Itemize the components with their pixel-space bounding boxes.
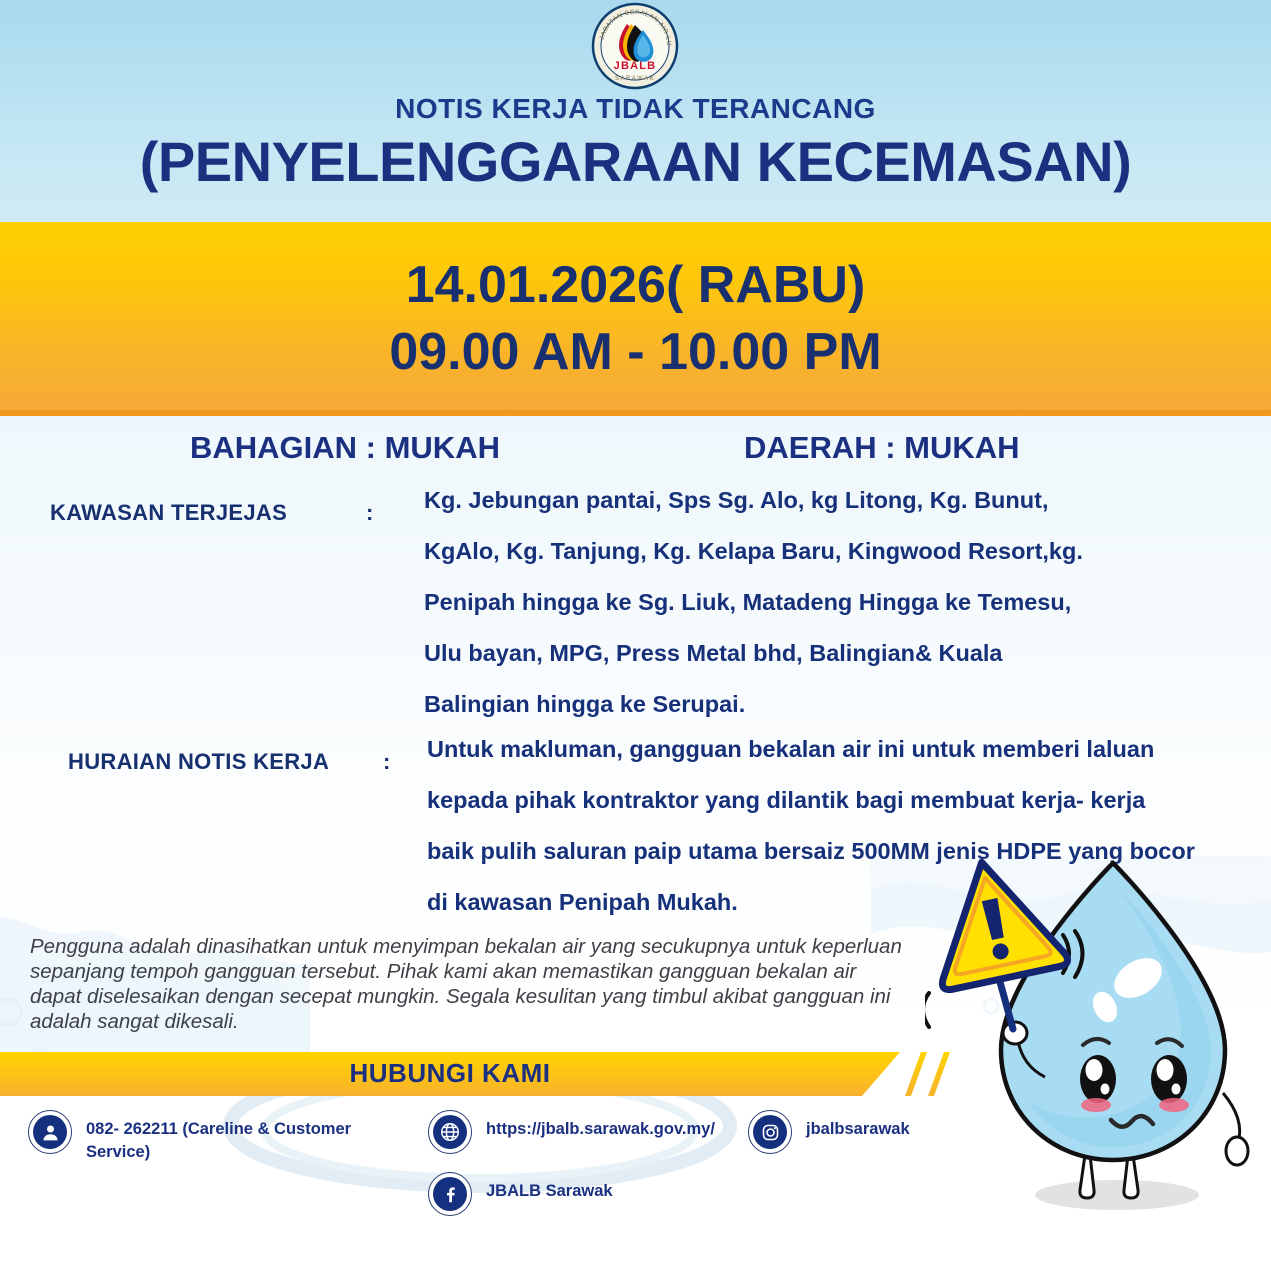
area-line: Penipah hingga ke Sg. Liuk, Matadeng Hin… xyxy=(424,577,1254,628)
area-line: Balingian hingga ke Serupai. xyxy=(424,679,1254,730)
kawasan-terjejas-colon: : xyxy=(366,500,373,526)
notice-title: (PENYELENGGARAAN KECEMASAN) xyxy=(0,133,1271,192)
area-line: Ulu bayan, MPG, Press Metal bhd, Balingi… xyxy=(424,628,1254,679)
contact-facebook[interactable]: JBALB Sarawak xyxy=(428,1172,728,1216)
globe-icon xyxy=(428,1110,472,1154)
daerah-text: DAERAH : MUKAH xyxy=(744,430,1020,466)
facebook-text: JBALB Sarawak xyxy=(486,1172,613,1203)
contact-careline[interactable]: 082- 262211 (Careline & Customer Service… xyxy=(28,1110,388,1164)
instagram-text: jbalbsarawak xyxy=(806,1110,910,1141)
hubungi-kami-label: HUBUNGI KAMI xyxy=(0,1058,900,1089)
careline-text: 082- 262211 (Careline & Customer Service… xyxy=(86,1110,366,1164)
person-icon xyxy=(28,1110,72,1154)
svg-text:SARAWAK: SARAWAK xyxy=(615,76,655,82)
advisory-paragraph: Pengguna adalah dinasihatkan untuk menyi… xyxy=(30,934,910,1034)
facebook-icon xyxy=(428,1172,472,1216)
area-line: KgAlo, Kg. Tanjung, Kg. Kelapa Baru, Kin… xyxy=(424,526,1254,577)
svg-text:JBALB: JBALB xyxy=(614,60,657,72)
area-line: Kg. Jebungan pantai, Sps Sg. Alo, kg Lit… xyxy=(424,475,1254,526)
website-text: https://jbalb.sarawak.gov.my/ xyxy=(486,1110,715,1141)
notice-subtitle: NOTIS KERJA TIDAK TERANCANG xyxy=(0,93,1271,125)
contact-website[interactable]: https://jbalb.sarawak.gov.my/ xyxy=(428,1110,758,1154)
desc-line: kepada pihak kontraktor yang dilantik ba… xyxy=(427,775,1245,826)
notice-time: 09.00 AM - 10.00 PM xyxy=(389,319,881,386)
huraian-notis-kerja-label: HURAIAN NOTIS KERJA xyxy=(68,749,329,775)
jbalb-logo: JBALB SARAWAK JABATAN BEKALAN AIR LUAR B… xyxy=(591,2,679,90)
warning-triangle-icon xyxy=(925,855,1069,991)
water-droplet-mascot xyxy=(925,855,1271,1265)
desc-line: Untuk makluman, gangguan bekalan air ini… xyxy=(427,724,1245,775)
bahagian-text: BAHAGIAN : MUKAH xyxy=(190,430,500,466)
kawasan-terjejas-label: KAWASAN TERJEJAS xyxy=(50,500,287,526)
notice-date: 14.01.2026( RABU) xyxy=(406,252,866,319)
kawasan-terjejas-value: Kg. Jebungan pantai, Sps Sg. Alo, kg Lit… xyxy=(424,475,1254,730)
date-time-band: 14.01.2026( RABU) 09.00 AM - 10.00 PM xyxy=(0,222,1271,415)
poster-header: JBALB SARAWAK JABATAN BEKALAN AIR LUAR B… xyxy=(0,0,1271,222)
instagram-icon xyxy=(748,1110,792,1154)
notice-poster: JBALB SARAWAK JABATAN BEKALAN AIR LUAR B… xyxy=(0,0,1271,1272)
huraian-notis-kerja-colon: : xyxy=(383,749,390,775)
